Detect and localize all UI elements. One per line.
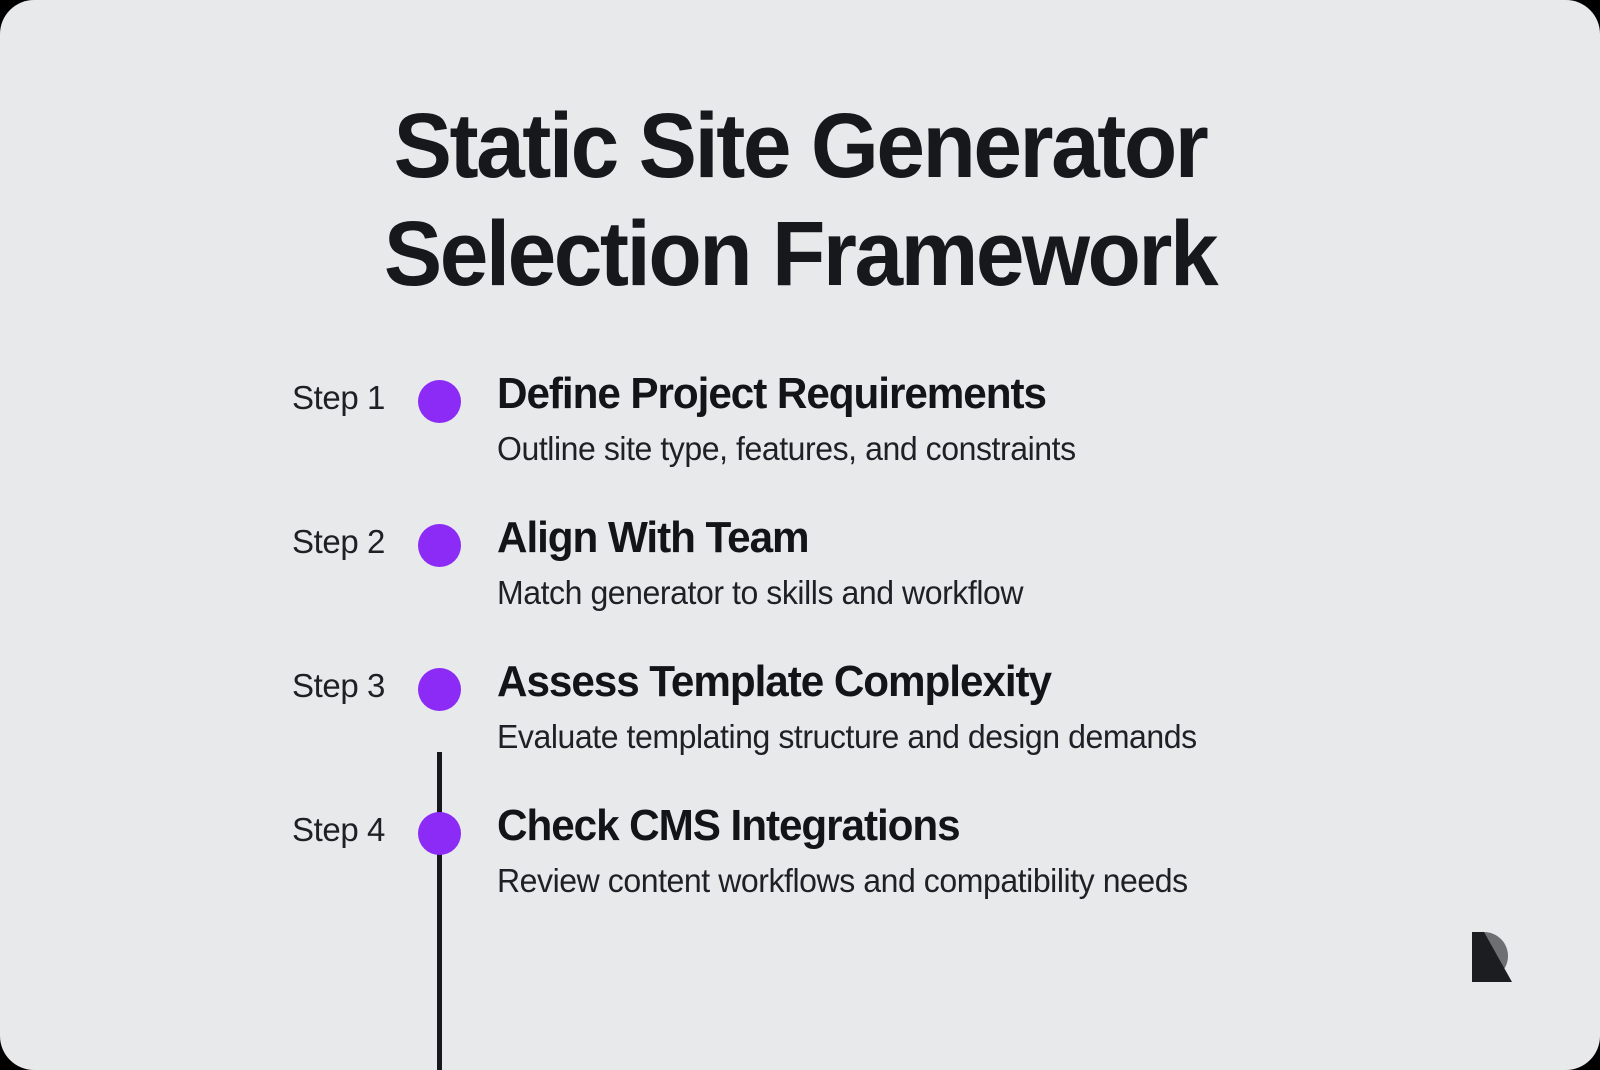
step-description: Review content workflows and compatibili… <box>497 859 1467 903</box>
step-number-label: Step 4 <box>80 810 385 850</box>
brand-logo-r-icon <box>1464 926 1522 998</box>
timeline-step-4[interactable]: Step 4 Check CMS Integrations Review con… <box>0 787 1600 931</box>
step-number-label: Step 2 <box>80 522 385 562</box>
page-title: Static Site Generator Selection Framewor… <box>40 92 1560 308</box>
timeline-dot-icon <box>418 812 461 855</box>
timeline-dot-icon <box>418 668 461 711</box>
step-description: Evaluate templating structure and design… <box>497 715 1467 759</box>
timeline-dot-icon <box>418 380 461 423</box>
steps-timeline: Step 1 Define Project Requirements Outli… <box>0 355 1600 955</box>
step-content: Define Project Requirements Outline site… <box>497 365 1497 471</box>
timeline-step-2[interactable]: Step 2 Align With Team Match generator t… <box>0 499 1600 643</box>
step-number-label: Step 3 <box>80 666 385 706</box>
timeline-dot-icon <box>418 524 461 567</box>
step-title: Align With Team <box>497 509 1457 567</box>
step-content: Assess Template Complexity Evaluate temp… <box>497 653 1497 759</box>
timeline-step-3[interactable]: Step 3 Assess Template Complexity Evalua… <box>0 643 1600 787</box>
step-title: Check CMS Integrations <box>497 797 1457 855</box>
step-number-label: Step 1 <box>80 378 385 418</box>
step-description: Outline site type, features, and constra… <box>497 427 1467 471</box>
poster-canvas: Static Site Generator Selection Framewor… <box>0 0 1600 1070</box>
step-content: Check CMS Integrations Review content wo… <box>497 797 1497 903</box>
timeline-step-1[interactable]: Step 1 Define Project Requirements Outli… <box>0 355 1600 499</box>
step-title: Assess Template Complexity <box>497 653 1457 711</box>
step-description: Match generator to skills and workflow <box>497 571 1467 615</box>
step-content: Align With Team Match generator to skill… <box>497 509 1497 615</box>
step-title: Define Project Requirements <box>497 365 1457 423</box>
